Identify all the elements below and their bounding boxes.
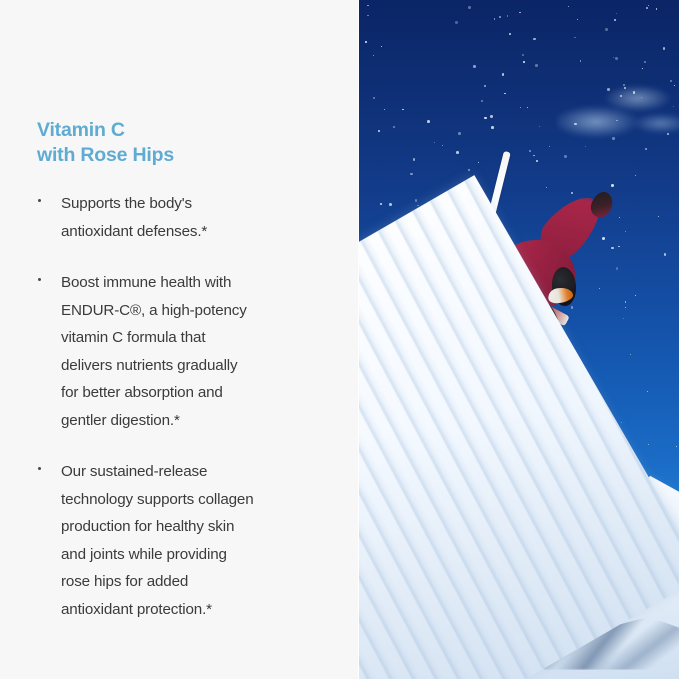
page-title: Vitamin C with Rose Hips <box>37 118 174 168</box>
bullet-dot-icon <box>38 199 41 202</box>
product-detail-panel: Vitamin C with Rose Hips Supports the bo… <box>0 0 679 679</box>
page-title-line-2: with Rose Hips <box>37 143 174 168</box>
list-item-text: Our sustained-release technology support… <box>61 458 340 623</box>
list-item: Our sustained-release technology support… <box>0 458 358 623</box>
page-title-line-1: Vitamin C <box>37 118 174 143</box>
cirrus-cloud-upper <box>557 75 679 153</box>
photo-scene <box>358 0 679 679</box>
benefit-list: Supports the body's antioxidant defenses… <box>0 190 358 623</box>
text-panel: Vitamin C with Rose Hips Supports the bo… <box>0 0 358 679</box>
list-item-text: Supports the body's antioxidant defenses… <box>61 190 340 245</box>
lifestyle-photo <box>358 0 679 679</box>
bullet-dot-icon <box>38 467 41 470</box>
list-item: Supports the body's antioxidant defenses… <box>0 190 358 245</box>
list-item-text: Boost immune health with ENDUR-C®, a hig… <box>61 269 340 434</box>
bullet-dot-icon <box>38 278 41 281</box>
photo-left-edge <box>358 0 359 679</box>
list-item: Boost immune health with ENDUR-C®, a hig… <box>0 269 358 434</box>
